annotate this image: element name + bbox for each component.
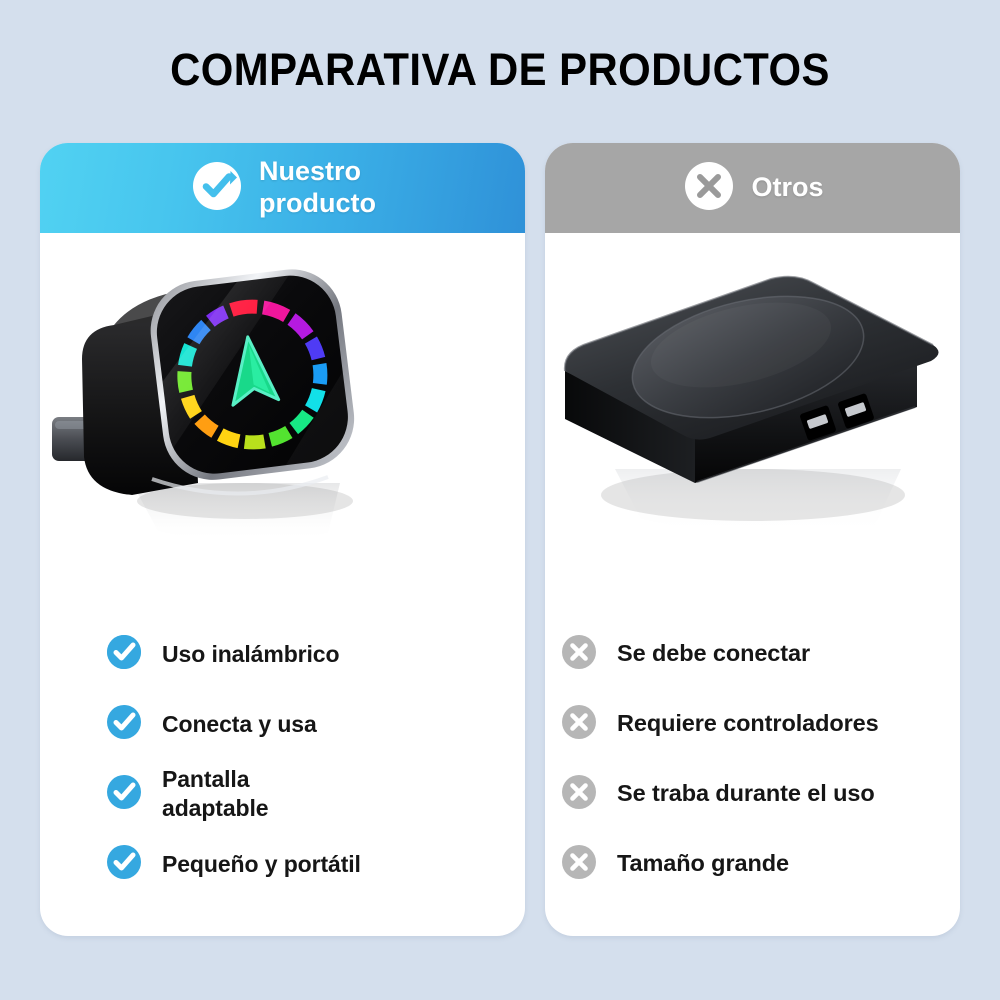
feature-row: Pantalla adaptable [104, 759, 525, 829]
feature-row: Pequeño y portátil [104, 829, 525, 899]
feature-label: Uso inalámbrico [162, 640, 339, 669]
feature-row: Uso inalámbrico [104, 619, 525, 689]
header-title-line1: Nuestro [259, 156, 361, 186]
feature-label: Pequeño y portátil [162, 850, 361, 879]
product-image-our-product [40, 233, 525, 603]
feature-label: Requiere controladores [617, 709, 879, 738]
x-circle-icon [559, 842, 599, 887]
card-header-others: Otros [545, 143, 960, 233]
page-title: COMPARATIVA DE PRODUCTOS [35, 44, 965, 96]
feature-list-others: Se debe conectar Requiere controladores [545, 603, 960, 936]
feature-row: Requiere controladores [559, 689, 960, 759]
header-title-line1: Otros [751, 172, 823, 202]
feature-label-line1: Uso inalámbrico [162, 641, 339, 667]
card-header-our-product: Nuestro producto [40, 143, 525, 233]
feature-row: Se traba durante el uso [559, 759, 960, 829]
feature-label-line1: Conecta y usa [162, 711, 317, 737]
check-circle-icon [104, 772, 144, 817]
feature-label: Se traba durante el uso [617, 779, 875, 808]
feature-label: Pantalla adaptable [162, 765, 268, 822]
x-circle-icon [559, 632, 599, 677]
feature-label-line1: Se traba durante el uso [617, 780, 875, 806]
feature-label: Conecta y usa [162, 710, 317, 739]
comparison-cards: Nuestro producto [40, 143, 960, 936]
feature-label-line1: Requiere controladores [617, 710, 879, 736]
product-image-others [545, 233, 960, 603]
feature-label: Se debe conectar [617, 639, 810, 668]
feature-label: Tamaño grande [617, 849, 789, 878]
x-circle-icon [559, 772, 599, 817]
card-others: Otros [545, 143, 960, 936]
check-circle-icon [189, 158, 245, 219]
feature-row: Se debe conectar [559, 619, 960, 689]
card-header-title-our-product: Nuestro producto [259, 156, 376, 220]
check-circle-icon [104, 702, 144, 747]
check-circle-icon [104, 842, 144, 887]
feature-row: Tamaño grande [559, 829, 960, 899]
feature-row: Conecta y usa [104, 689, 525, 759]
feature-label-line1: Pequeño y portátil [162, 851, 361, 877]
x-circle-icon [559, 702, 599, 747]
feature-label-line1: Tamaño grande [617, 850, 789, 876]
card-our-product: Nuestro producto [40, 143, 525, 936]
feature-label-line2: adaptable [162, 794, 268, 823]
feature-label-line1: Se debe conectar [617, 640, 810, 666]
check-circle-icon [104, 632, 144, 677]
x-circle-icon [681, 158, 737, 219]
header-title-line2: producto [259, 188, 376, 218]
feature-label-line1: Pantalla [162, 766, 249, 792]
card-header-title-others: Otros [751, 172, 823, 204]
feature-list-our-product: Uso inalámbrico Conecta y usa [40, 603, 525, 936]
